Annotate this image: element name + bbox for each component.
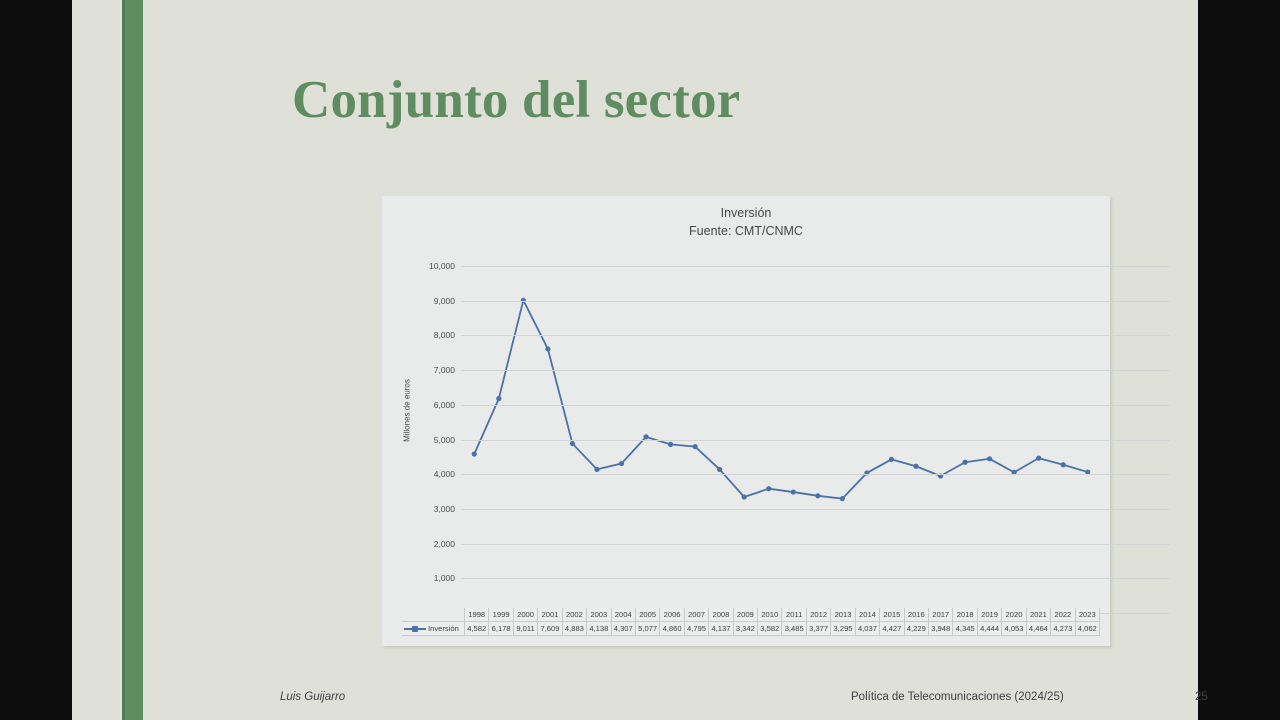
- table-cell-value: 3,295: [831, 622, 855, 636]
- x-axis-tick-label: 2021: [1026, 608, 1050, 622]
- table-cell-value: 4,860: [660, 622, 684, 636]
- plot-area: 01,0002,0003,0004,0005,0006,0007,0008,00…: [461, 266, 1170, 613]
- table-cell-value: 4,037: [855, 622, 879, 636]
- table-cell-value: 4,795: [684, 622, 708, 636]
- x-axis-tick-label: 2020: [1002, 608, 1026, 622]
- table-header-row: 1998199920002001200220032004200520062007…: [402, 608, 1100, 622]
- legend-entry: Inversión: [402, 622, 465, 636]
- gridline: 5,000: [461, 440, 1170, 441]
- table-header-corner: [402, 608, 465, 622]
- table-cell-value: 6,178: [489, 622, 513, 636]
- table-cell-value: 4,062: [1075, 622, 1099, 636]
- gridline: 6,000: [461, 405, 1170, 406]
- chart-panel: Inversión Fuente: CMT/CNMC Millones de e…: [382, 196, 1110, 646]
- data-point: [913, 464, 918, 469]
- data-point: [619, 461, 624, 466]
- data-point: [889, 457, 894, 462]
- data-point: [840, 496, 845, 501]
- x-axis-tick-label: 2022: [1051, 608, 1075, 622]
- table-cell-value: 3,342: [733, 622, 757, 636]
- table-cell-value: 4,053: [1002, 622, 1026, 636]
- table-cell-value: 7,609: [538, 622, 562, 636]
- data-point: [594, 467, 599, 472]
- chart-data-table: 1998199920002001200220032004200520062007…: [402, 608, 1100, 636]
- footer-course: Política de Telecomunicaciones (2024/25): [851, 691, 1064, 703]
- data-point: [1061, 462, 1066, 467]
- gridline: 10,000: [461, 266, 1170, 267]
- table-cell-value: 4,427: [880, 622, 904, 636]
- x-axis-tick-label: 2006: [660, 608, 684, 622]
- gridline: 8,000: [461, 335, 1170, 336]
- x-axis-tick-label: 2001: [538, 608, 562, 622]
- table-cell-value: 4,444: [977, 622, 1001, 636]
- x-axis-tick-label: 2013: [831, 608, 855, 622]
- table-cell-value: 4,464: [1026, 622, 1050, 636]
- table-cell-value: 3,948: [929, 622, 953, 636]
- footer-page-number: 25: [1195, 691, 1208, 703]
- y-axis-label: Millones de euros: [403, 351, 412, 471]
- x-axis-tick-label: 1998: [465, 608, 489, 622]
- slide-accent-stripe: [122, 0, 143, 720]
- table-cell-value: 9,011: [513, 622, 537, 636]
- x-axis-tick-label: 2009: [733, 608, 757, 622]
- y-axis-tick-label: 3,000: [434, 504, 455, 514]
- x-axis-tick-label: 2000: [513, 608, 537, 622]
- table-cell-value: 4,138: [587, 622, 611, 636]
- data-point: [496, 396, 501, 401]
- data-point: [693, 444, 698, 449]
- x-axis-tick-label: 2011: [782, 608, 806, 622]
- y-axis-tick-label: 2,000: [434, 539, 455, 549]
- gridline: 4,000: [461, 474, 1170, 475]
- slide-accent-stripe-edge: [122, 0, 125, 720]
- table-cell-value: 5,077: [635, 622, 659, 636]
- footer-author: Luis Guijarro: [280, 691, 345, 703]
- x-axis-tick-label: 2014: [855, 608, 879, 622]
- table-cell-value: 4,345: [953, 622, 977, 636]
- x-axis-tick-label: 2002: [562, 608, 586, 622]
- y-axis-tick-label: 10,000: [429, 261, 455, 271]
- table-cell-value: 4,307: [611, 622, 635, 636]
- data-point: [472, 451, 477, 456]
- x-axis-tick-label: 2012: [806, 608, 830, 622]
- table-cell-value: 4,137: [709, 622, 733, 636]
- table-cell-value: 3,377: [806, 622, 830, 636]
- series-line-inversion: [474, 300, 1087, 498]
- y-axis-tick-label: 7,000: [434, 365, 455, 375]
- x-axis-tick-label: 1999: [489, 608, 513, 622]
- gridline: 2,000: [461, 544, 1170, 545]
- table-cell-value: 4,229: [904, 622, 928, 636]
- gridline: 7,000: [461, 370, 1170, 371]
- x-axis-tick-label: 2018: [953, 608, 977, 622]
- chart-heading: Inversión Fuente: CMT/CNMC: [382, 204, 1110, 240]
- data-point: [791, 489, 796, 494]
- x-axis-tick-label: 2010: [758, 608, 782, 622]
- x-axis-tick-label: 2008: [709, 608, 733, 622]
- y-axis-tick-label: 5,000: [434, 435, 455, 445]
- x-axis-tick-label: 2019: [977, 608, 1001, 622]
- x-axis-tick-label: 2023: [1075, 608, 1099, 622]
- chart-subtitle: Fuente: CMT/CNMC: [382, 222, 1110, 240]
- data-point: [570, 441, 575, 446]
- x-axis-tick-label: 2004: [611, 608, 635, 622]
- y-axis-tick-label: 1,000: [434, 573, 455, 583]
- x-axis-tick-label: 2017: [929, 608, 953, 622]
- slide-content-area: Conjunto del sector Inversión Fuente: CM…: [143, 0, 1198, 720]
- gridline: 1,000: [461, 578, 1170, 579]
- y-axis-tick-label: 9,000: [434, 296, 455, 306]
- x-axis-tick-label: 2005: [635, 608, 659, 622]
- x-axis-tick-label: 2007: [684, 608, 708, 622]
- y-axis-tick-label: 8,000: [434, 330, 455, 340]
- data-point: [815, 493, 820, 498]
- data-point: [962, 460, 967, 465]
- data-point: [545, 346, 550, 351]
- legend-label: Inversión: [428, 624, 459, 633]
- legend-line-marker-icon: [404, 625, 426, 633]
- data-point: [766, 486, 771, 491]
- table-cell-value: 4,273: [1051, 622, 1075, 636]
- data-point: [717, 467, 722, 472]
- x-axis-tick-label: 2016: [904, 608, 928, 622]
- data-point: [987, 456, 992, 461]
- y-axis-tick-label: 6,000: [434, 400, 455, 410]
- data-point: [1036, 456, 1041, 461]
- chart-title: Inversión: [382, 204, 1110, 222]
- table-cell-value: 3,485: [782, 622, 806, 636]
- series-markers-inversion: [472, 298, 1091, 502]
- data-point: [668, 442, 673, 447]
- y-axis-tick-label: 4,000: [434, 469, 455, 479]
- table-cell-value: 4,883: [562, 622, 586, 636]
- slide-canvas: Conjunto del sector Inversión Fuente: CM…: [72, 0, 1198, 720]
- gridline: 9,000: [461, 301, 1170, 302]
- page-title: Conjunto del sector: [292, 68, 740, 132]
- x-axis-tick-label: 2015: [880, 608, 904, 622]
- table-cell-value: 4,582: [465, 622, 489, 636]
- screen: Conjunto del sector Inversión Fuente: CM…: [0, 0, 1280, 720]
- table-cell-value: 3,582: [758, 622, 782, 636]
- x-axis-tick-label: 2003: [587, 608, 611, 622]
- gridline: 3,000: [461, 509, 1170, 510]
- data-point: [742, 494, 747, 499]
- table-row: Inversión 4,5826,1789,0117,6094,8834,138…: [402, 622, 1100, 636]
